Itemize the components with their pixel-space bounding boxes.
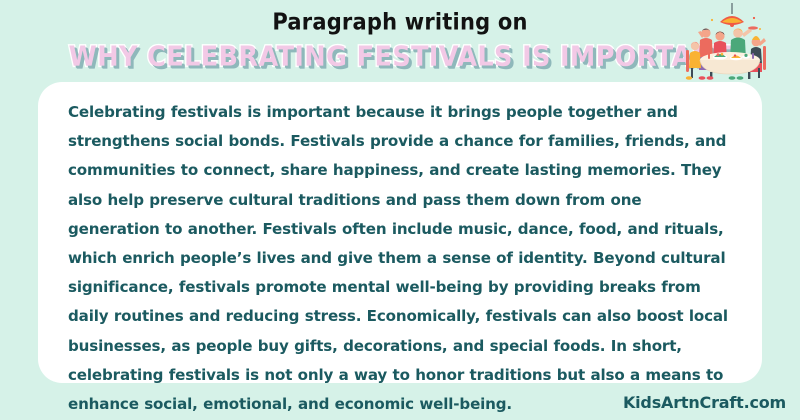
paragraph-body: Celebrating festivals is important becau… <box>68 98 734 419</box>
brand-watermark: KidsArtnCraft.com <box>623 393 786 412</box>
content-card: Celebrating festivals is important becau… <box>38 82 762 383</box>
header: Paragraph writing on WHY CELEBRATING FES… <box>0 0 800 82</box>
family-celebrating-around-table-illustration <box>672 2 792 82</box>
